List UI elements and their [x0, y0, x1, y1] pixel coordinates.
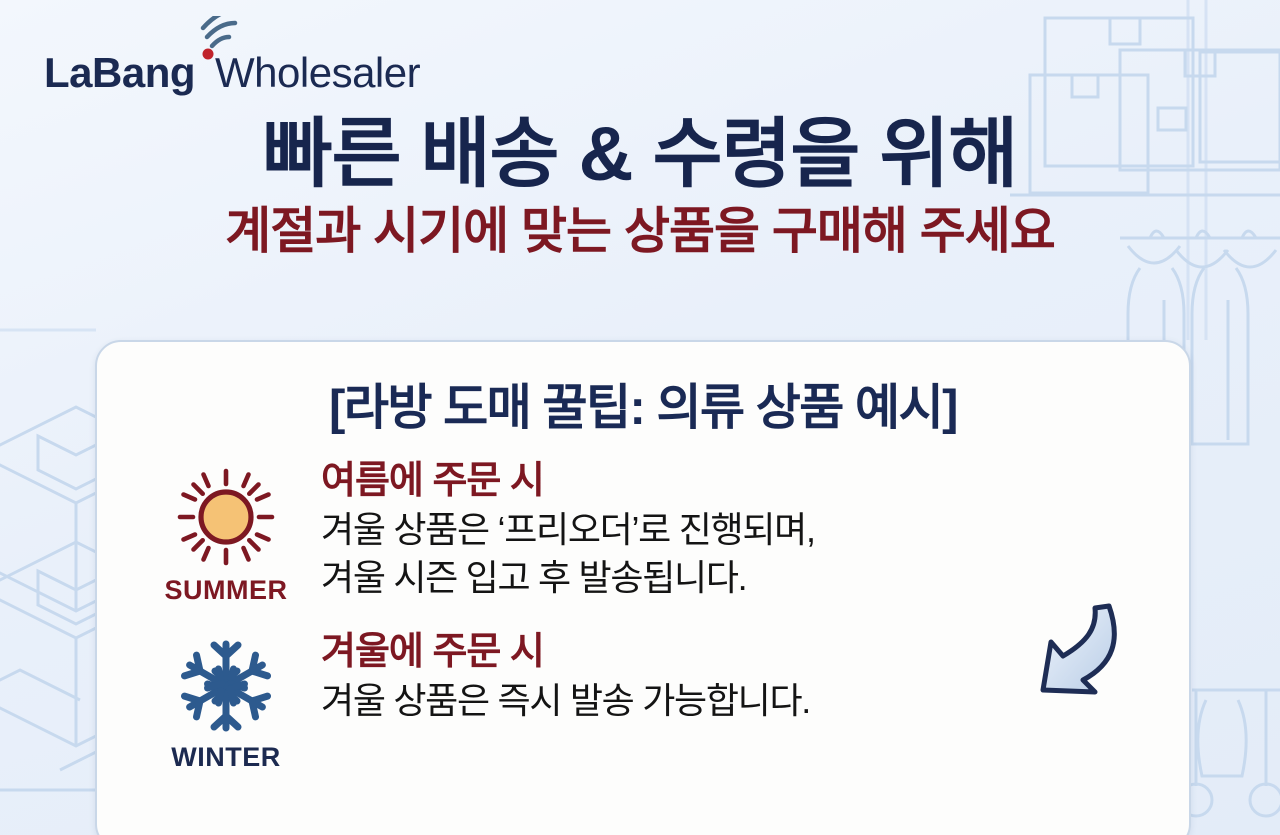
brand-logo[interactable]: LaBang Wholesaler [44, 28, 420, 94]
season-body-line-2: 겨울 시즌 입고 후 발송됩니다. [321, 555, 1155, 601]
season-text-summer: 여름에 주문 시 겨울 상품은 ‘프리오더’로 진행되며, 겨울 시즌 입고 후… [321, 457, 1155, 601]
brand-name-bold: LaBang [44, 52, 195, 94]
season-body-line-1: 겨울 상품은 ‘프리오더’로 진행되며, [321, 507, 1155, 553]
page-title: 빠른 배송 & 수령을 위해 [0, 112, 1280, 197]
snowflake-icon [176, 636, 276, 736]
season-badge-winter: WINTER [131, 628, 321, 773]
season-label-winter: WINTER [171, 742, 280, 773]
season-label-summer: SUMMER [165, 575, 288, 606]
sun-icon [174, 465, 278, 569]
page-subtitle: 계절과 시기에 맞는 상품을 구매해 주세요 [0, 203, 1280, 259]
wifi-signal-icon [198, 16, 260, 66]
card-title: [라방 도매 꿀팁: 의류 상품 예시] [131, 368, 1155, 439]
headline-block: 빠른 배송 & 수령을 위해 계절과 시기에 맞는 상품을 구매해 주세요 [0, 112, 1280, 259]
season-badge-summer: SUMMER [131, 457, 321, 606]
tip-card: [라방 도매 꿀팁: 의류 상품 예시] [95, 340, 1191, 835]
season-row-summer: SUMMER 여름에 주문 시 겨울 상품은 ‘프리오더’로 진행되며, 겨울 … [131, 457, 1155, 606]
season-heading-summer: 여름에 주문 시 [321, 459, 1155, 505]
curved-arrow-down-left-icon [1025, 598, 1145, 708]
brand-dot-icon [203, 49, 214, 60]
season-row-winter: WINTER 겨울에 주문 시 겨울 상품은 즉시 발송 가능합니다. [131, 628, 1155, 773]
